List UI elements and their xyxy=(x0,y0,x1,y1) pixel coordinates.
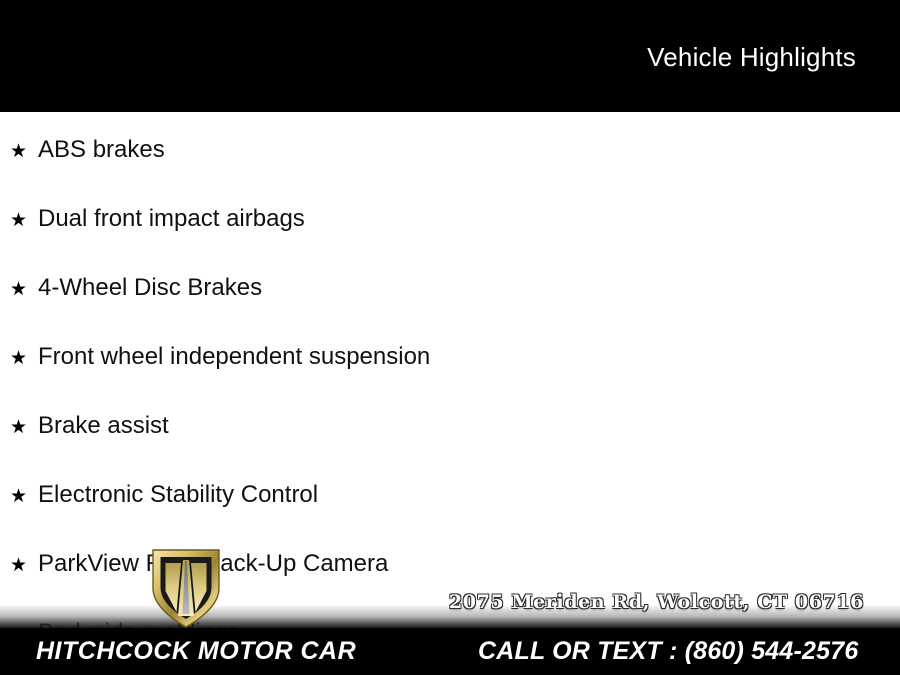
list-item-label: ABS brakes xyxy=(38,138,165,162)
list-item-label: Brake assist xyxy=(38,414,169,438)
list-item: ★ Electronic Stability Control xyxy=(10,483,318,507)
list-item: ★ Brake assist xyxy=(10,414,169,438)
hitchcock-shield-logo xyxy=(150,546,222,630)
header-bar: Vehicle Highlights xyxy=(0,0,900,112)
star-bullet-icon: ★ xyxy=(10,142,38,161)
star-bullet-icon: ★ xyxy=(10,418,38,437)
list-item-label: Electronic Stability Control xyxy=(38,483,318,507)
list-item: ★ ABS brakes xyxy=(10,138,165,162)
list-item: ★ 4-Wheel Disc Brakes xyxy=(10,276,262,300)
star-bullet-icon: ★ xyxy=(10,556,38,575)
list-item-label: Front wheel independent suspension xyxy=(38,345,430,369)
star-bullet-icon: ★ xyxy=(10,349,38,368)
page-title: Vehicle Highlights xyxy=(647,42,856,73)
footer-bar: HITCHCOCK MOTOR CAR CALL OR TEXT : (860)… xyxy=(0,628,900,675)
list-item: ★ Dual front impact airbags xyxy=(10,207,305,231)
list-item-label: 4-Wheel Disc Brakes xyxy=(38,276,262,300)
list-item: ★ Front wheel independent suspension xyxy=(10,345,430,369)
phone-cta[interactable]: CALL OR TEXT : (860) 544-2576 xyxy=(478,637,858,666)
star-bullet-icon: ★ xyxy=(10,487,38,506)
dealer-address: 2075 Meriden Rd, Wolcott, CT 06716 xyxy=(449,591,864,613)
dealer-name: HITCHCOCK MOTOR CAR xyxy=(36,637,356,666)
list-item-label: Dual front impact airbags xyxy=(38,207,305,231)
star-bullet-icon: ★ xyxy=(10,280,38,299)
vehicle-highlights-slide: Vehicle Highlights ★ ABS brakes ★ Dual f… xyxy=(0,0,900,675)
vehicle-highlights-list: ★ ABS brakes ★ Dual front impact airbags… xyxy=(0,112,900,642)
star-bullet-icon: ★ xyxy=(10,211,38,230)
